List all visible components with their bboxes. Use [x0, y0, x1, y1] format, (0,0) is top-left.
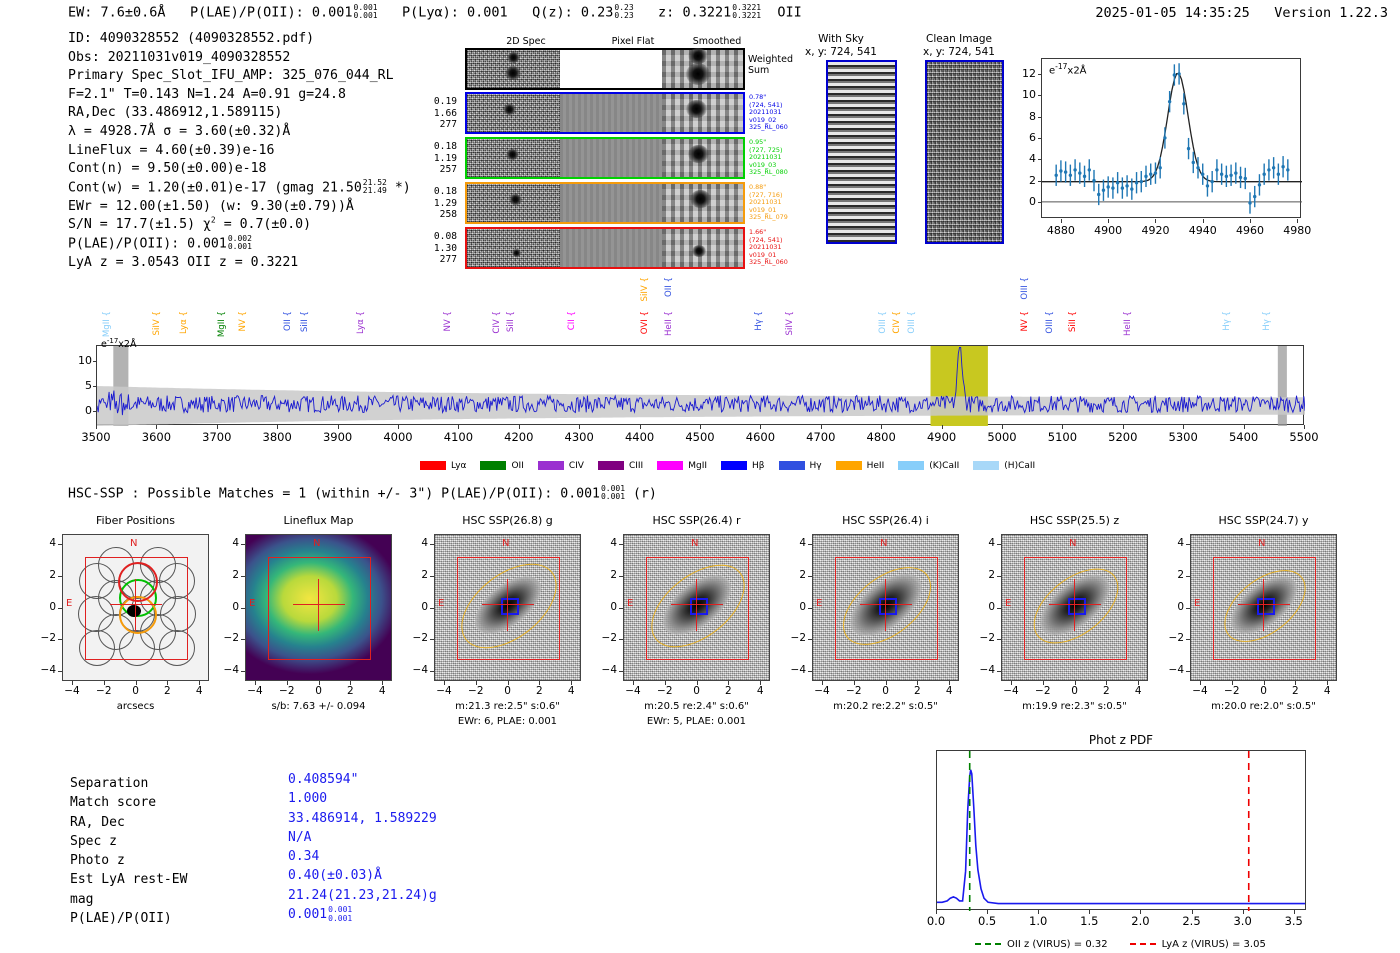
spectrum-legend-swatch — [480, 461, 506, 470]
info-sn-chi2: S/N = 17.7(±1.5) χ2 = 0.7(±0.0) — [68, 216, 411, 235]
spectrum-legend-label: Hβ — [752, 461, 765, 471]
spectrum-line-label: CIV { — [492, 311, 502, 334]
axis-tick-label: 2 — [1016, 174, 1036, 187]
axis-tick — [1108, 219, 1109, 223]
spectrum-line-label: OII { — [283, 311, 293, 331]
match-label: mag — [70, 890, 187, 909]
fiber-row-left-value: 277 — [417, 254, 457, 266]
axis-tick-label: 2 — [526, 685, 552, 697]
axis-tick — [241, 608, 245, 609]
fiber-row-meta: 0.95"(727, 725)20211031v019_03325_RL_080 — [749, 139, 788, 177]
axis-tick-label: −4 — [1187, 685, 1213, 697]
spectrum-line-label: OVI { — [640, 311, 650, 334]
axis-tick-label: 4200 — [497, 430, 541, 444]
spectrum-legend-swatch — [598, 461, 624, 470]
photz-pdf-plot — [936, 750, 1306, 910]
emission-line-units-exp: -17 — [1055, 62, 1067, 71]
crosshair — [435, 535, 580, 680]
spectrum-line-label: HeII { — [1123, 311, 1133, 336]
compass-east-label: E — [249, 598, 255, 609]
axis-tick-label: 2 — [1282, 685, 1308, 697]
spectrum-legend-label: CIV — [569, 461, 584, 471]
spectrum-line-label: OII { — [664, 277, 674, 297]
axis-tick — [997, 639, 1001, 640]
axis-tick — [430, 608, 434, 609]
spectrum-line-label: NV { — [238, 311, 248, 332]
weighted-sum-smoothed-image — [662, 50, 743, 88]
axis-tick-label: 4 — [558, 685, 584, 697]
axis-tick-label: −2 — [463, 685, 489, 697]
compass-east-label: E — [1194, 598, 1200, 609]
axis-tick — [338, 425, 339, 429]
fiber-row — [465, 227, 745, 269]
cutout-title: Lineflux Map — [219, 514, 419, 527]
axis-tick-label: 2 — [786, 569, 806, 581]
photz-legend-label: OII z (VIRUS) = 0.32 — [1007, 939, 1108, 950]
axis-tick — [1038, 138, 1042, 139]
fiber-row-left-value: 0.08 — [417, 231, 457, 243]
axis-tick-label: −2 — [1219, 685, 1245, 697]
axis-tick-label: 0 — [873, 685, 899, 697]
axis-tick-label: 4 — [408, 537, 428, 549]
fiber-row-left-value: 277 — [417, 119, 457, 131]
weighted-sum-row — [465, 48, 745, 90]
spectrum-legend-swatch — [898, 461, 924, 470]
axis-tick-label: 4100 — [436, 430, 480, 444]
match-table-values: 0.408594"1.00033.486914, 1.589229N/A0.34… — [288, 770, 437, 924]
photz-legend: OII z (VIRUS) = 0.32LyA z (VIRUS) = 3.05 — [975, 930, 1288, 950]
spectrum-legend-label: (K)CaII — [929, 461, 959, 471]
spectrum-legend-item: MgII — [657, 461, 707, 471]
axis-tick-label: 5 — [73, 379, 92, 392]
axis-tick-label: 3500 — [74, 430, 118, 444]
header-plae-value: 0.001 — [312, 4, 353, 20]
spectrum-line-label: SiII { — [506, 311, 516, 332]
axis-tick-label: 5500 — [1282, 430, 1326, 444]
axis-tick-label: 3.0 — [1225, 914, 1261, 928]
fiber-row-left-value: 258 — [417, 209, 457, 221]
axis-tick-label: 4920 — [1139, 224, 1171, 237]
weighted-sum-2dspec-image — [467, 50, 560, 88]
compass-north-label: N — [1069, 538, 1076, 549]
axis-tick — [277, 425, 278, 429]
axis-tick-label: −4 — [431, 685, 457, 697]
cutout-caption-secondary: EWr: 6, PLAE: 0.001 — [403, 716, 613, 727]
photz-legend-swatch — [975, 943, 1001, 945]
axis-tick — [1155, 219, 1156, 223]
axis-tick-label: 4 — [36, 537, 56, 549]
axis-tick — [156, 425, 157, 429]
fiber-row-left-values: 0.191.66277 — [417, 96, 457, 131]
match-plae-lo: 0.001 — [328, 914, 352, 923]
spectrum-line-label: CIV { — [892, 311, 902, 334]
axis-tick — [760, 425, 761, 429]
axis-tick-label: 0 — [975, 601, 995, 613]
axis-tick — [217, 425, 218, 429]
axis-tick-label: 0 — [123, 685, 149, 697]
axis-tick-label: 4900 — [1092, 224, 1124, 237]
spectrum-legend-label: OII — [511, 461, 523, 471]
match-value: 21.24(21.23,21.24)g — [288, 886, 437, 905]
info-obs: Obs: 20211031v019_4090328552 — [68, 49, 411, 68]
full-spectrum-plot: 0510 — [96, 345, 1304, 425]
spectrum-line-label: SiIV { — [152, 311, 162, 335]
crosshair — [246, 535, 391, 680]
axis-tick — [430, 671, 434, 672]
info-plae-value: 0.001 — [187, 236, 227, 251]
cutout-panel[interactable] — [1001, 534, 1148, 681]
fiber-row-smoothed-image — [662, 139, 743, 177]
axis-tick-label: 1.0 — [1020, 914, 1056, 928]
axis-tick — [398, 425, 399, 429]
cutout-title: Fiber Positions — [36, 514, 236, 527]
spectrum-line-label: SiIV { — [785, 311, 795, 335]
spectrum-line-label: HeII { — [664, 311, 674, 336]
cutout-caption: m:20.5 re:2.4" s:0.6" — [592, 701, 802, 712]
axis-tick-label: −4 — [786, 664, 806, 676]
axis-tick — [640, 425, 641, 429]
axis-tick-label: 3800 — [255, 430, 299, 444]
fiber-row-2dspec-image — [467, 94, 560, 132]
lineflux-map-panel[interactable] — [245, 534, 392, 681]
fiber-row-2dspec-image — [467, 139, 560, 177]
hsc-header-plae-lo: 0.001 — [601, 492, 625, 501]
axis-tick-label: 5300 — [1161, 430, 1205, 444]
cutout-caption-secondary: EWr: 5, PLAE: 0.001 — [592, 716, 802, 727]
fiber-row-meta: 0.78"(724, 541)20211031v019_02325_RL_060 — [749, 94, 788, 132]
axis-tick-label: −2 — [1164, 632, 1184, 644]
axis-tick-label: 3700 — [195, 430, 239, 444]
axis-tick-label: 5400 — [1222, 430, 1266, 444]
fiber-row-pixelflat-image — [560, 94, 662, 132]
axis-tick — [1183, 425, 1184, 429]
info-radec: RA,Dec (33.486912,1.589115) — [68, 104, 411, 123]
crosshair — [813, 535, 958, 680]
spectrum-legend-item: CIII — [598, 461, 643, 471]
axis-tick-label: 4800 — [859, 430, 903, 444]
fiber-row-meta-line: 325_RL_080 — [749, 169, 788, 177]
weighted-sum-pixelflat-image — [560, 50, 662, 88]
cutout-panel[interactable] — [62, 534, 209, 681]
axis-tick — [1244, 425, 1245, 429]
axis-tick-label: 0 — [408, 601, 428, 613]
fiber-row-pixelflat-image — [560, 229, 662, 267]
axis-tick-label: 4600 — [738, 430, 782, 444]
spectrum-legend-swatch — [538, 461, 564, 470]
axis-tick-label: 3900 — [316, 430, 360, 444]
cutout-panel[interactable] — [812, 534, 959, 681]
axis-tick-label: 10 — [1016, 88, 1036, 101]
axis-tick-label: 4880 — [1045, 224, 1077, 237]
axis-tick-label: 4000 — [376, 430, 420, 444]
axis-tick-label: 4 — [975, 537, 995, 549]
spectrum-legend-label: (H)CaII — [1004, 461, 1035, 471]
axis-tick-label: 0 — [36, 601, 56, 613]
header-summary: EW: 7.6±0.6Å P(LAE)/P(OII): 0.0010.0010.… — [68, 4, 802, 21]
axis-tick-label: −4 — [998, 685, 1024, 697]
axis-tick — [58, 671, 62, 672]
axis-tick — [519, 425, 520, 429]
fiber-row-left-value: 1.66 — [417, 108, 457, 120]
fiber-row-smoothed-image — [662, 184, 743, 222]
spectrum-units: e-17x2Å — [101, 337, 136, 350]
axis-tick — [1038, 159, 1042, 160]
match-label: Spec z — [70, 832, 187, 851]
spectrum-legend-item: Lyα — [420, 461, 466, 471]
cutout-title: HSC SSP(26.4) r — [597, 514, 797, 527]
axis-tick-label: −4 — [242, 685, 268, 697]
axis-tick-label: 0 — [597, 601, 617, 613]
axis-tick-label: −2 — [219, 632, 239, 644]
crosshair — [1002, 535, 1147, 680]
axis-tick — [1038, 117, 1042, 118]
withsky-title-line1: With Sky — [786, 33, 896, 46]
axis-tick — [430, 576, 434, 577]
withsky-image — [826, 60, 897, 244]
fiber-row-left-values: 0.081.30277 — [417, 231, 457, 266]
photz-pdf-title: Phot z PDF — [936, 733, 1306, 747]
info-cont-w-lo: 21.49 — [363, 186, 387, 195]
cutout-caption: arcsecs — [31, 701, 241, 712]
axis-tick-label: 4400 — [618, 430, 662, 444]
axis-tick-label: 4 — [1016, 152, 1036, 165]
fiber-row-left-value: 0.18 — [417, 186, 457, 198]
match-plae-value: 0.001 — [288, 907, 327, 922]
axis-tick — [1186, 544, 1190, 545]
axis-tick-label: 0 — [495, 685, 521, 697]
axis-tick — [241, 671, 245, 672]
spectrum-legend-label: Hγ — [810, 461, 822, 471]
axis-tick — [1038, 95, 1042, 96]
axis-tick — [1297, 219, 1298, 223]
axis-tick — [619, 639, 623, 640]
compass-north-label: N — [502, 538, 509, 549]
axis-tick-label: 5000 — [980, 430, 1024, 444]
info-ewr: EWr = 12.00(±1.50) (w: 9.30(±0.79))Å — [68, 198, 411, 217]
header-plae-label: P(LAE)/P(OII): — [190, 4, 304, 20]
fiber-row-left-value: 257 — [417, 164, 457, 176]
axis-tick-label: 4 — [1125, 685, 1151, 697]
cutout-title: HSC SSP(26.4) i — [786, 514, 986, 527]
header-plya-value: 0.001 — [467, 4, 508, 20]
axis-tick-label: 3600 — [134, 430, 178, 444]
axis-tick-label: 2 — [715, 685, 741, 697]
axis-tick-label: 6 — [1016, 131, 1036, 144]
axis-tick — [58, 544, 62, 545]
axis-tick — [997, 671, 1001, 672]
axis-tick-label: 2 — [408, 569, 428, 581]
fiber-row-left-values: 0.181.29258 — [417, 186, 457, 221]
axis-tick — [1186, 671, 1190, 672]
info-plae-label: P(LAE)/P(OII): — [68, 236, 179, 251]
axis-tick — [93, 411, 97, 412]
spectrum-line-label: CII { — [567, 311, 577, 330]
info-cont-w: Cont(w) = 1.20(±0.01)e-17 (gmag 21.5021.… — [68, 179, 411, 198]
axis-tick — [1250, 219, 1251, 223]
emission-line-units-rest: x2Å — [1067, 65, 1086, 76]
axis-tick-label: −4 — [809, 685, 835, 697]
axis-tick — [808, 608, 812, 609]
axis-tick-label: 4 — [369, 685, 395, 697]
axis-tick — [808, 671, 812, 672]
axis-tick — [430, 639, 434, 640]
axis-tick-label: 8 — [1016, 110, 1036, 123]
axis-tick — [1061, 219, 1062, 223]
axis-tick-label: 4 — [1164, 537, 1184, 549]
spectrum-legend-item: Hγ — [779, 461, 822, 471]
cutout-caption: m:21.3 re:2.5" s:0.6" — [403, 701, 613, 712]
axis-tick-label: 0 — [1251, 685, 1277, 697]
header-z-lo: 0.3221 — [732, 11, 761, 20]
spectrum-legend-swatch — [973, 461, 999, 470]
info-cont-w-pre: Cont(w) = 1.20(±0.01)e-17 (gmag 21.50 — [68, 180, 362, 195]
info-cont-w-post: *) — [395, 180, 411, 195]
axis-tick — [58, 639, 62, 640]
axis-tick-label: 2 — [154, 685, 180, 697]
axis-tick-label: −2 — [36, 632, 56, 644]
axis-tick — [619, 608, 623, 609]
cutout-panel[interactable] — [1190, 534, 1337, 681]
axis-tick — [96, 425, 97, 429]
spectrum-units-exp: -17 — [107, 337, 118, 345]
axis-tick — [1186, 576, 1190, 577]
spectrum-legend: LyαOIICIVCIIIMgIIHβHγHeII(K)CaII(H)CaII — [420, 455, 1049, 474]
axis-tick — [1304, 425, 1305, 429]
fiber-row-left-values: 0.181.19257 — [417, 141, 457, 176]
axis-tick-label: −4 — [975, 664, 995, 676]
fiber-row-left-value: 0.19 — [417, 96, 457, 108]
photz-legend-item: LyA z (VIRUS) = 3.05 — [1130, 939, 1266, 950]
header-qz-value: 0.23 — [581, 4, 614, 20]
photz-legend-swatch — [1130, 943, 1156, 945]
axis-tick-label: 0 — [306, 685, 332, 697]
info-sn-post: = 0.7(±0.0) — [216, 217, 311, 232]
axis-tick-label: −2 — [597, 632, 617, 644]
spectrum-legend-item: HeII — [836, 461, 885, 471]
axis-tick-label: 4900 — [920, 430, 964, 444]
axis-tick-label: 0 — [684, 685, 710, 697]
match-value: N/A — [288, 828, 437, 847]
axis-tick-label: 0.0 — [918, 914, 954, 928]
axis-tick — [821, 425, 822, 429]
header-qz-label: Q(z): — [532, 4, 573, 20]
info-plae-lo: 0.001 — [228, 242, 252, 251]
header-plya-label: P(Lyα): — [402, 4, 459, 20]
fiber-row-meta: 0.88"(727, 716)20211031v019_01325_RL_079 — [749, 184, 788, 222]
fiber-row-meta-line: 325_RL_079 — [749, 214, 788, 222]
match-label: P(LAE)/P(OII) — [70, 909, 187, 928]
info-seeing: F=2.1" T=0.143 N=1.24 A=0.91 g=24.8 — [68, 86, 411, 105]
axis-tick-label: 0.5 — [969, 914, 1005, 928]
withsky-title-line2: x, y: 724, 541 — [786, 46, 896, 59]
axis-tick-label: −2 — [786, 632, 806, 644]
axis-tick — [619, 671, 623, 672]
spectrum-line-label: OIII { — [1045, 311, 1055, 334]
axis-tick-label: 4700 — [799, 430, 843, 444]
axis-tick — [1038, 181, 1042, 182]
withsky-title: With Sky x, y: 724, 541 — [786, 33, 896, 59]
header-z-label: z: — [658, 4, 674, 20]
cutout-panel[interactable] — [434, 534, 581, 681]
match-label: RA, Dec — [70, 813, 187, 832]
axis-tick-label: 0 — [786, 601, 806, 613]
object-info-block: ID: 4090328552 (4090328552.pdf) Obs: 202… — [68, 30, 411, 273]
timestamp: 2025-01-05 14:35:25 — [1095, 5, 1249, 21]
axis-tick-label: 0 — [73, 404, 92, 417]
axis-tick — [579, 425, 580, 429]
spectrum-line-label: Hγ { — [1222, 311, 1232, 331]
axis-tick-label: 0 — [1016, 195, 1036, 208]
axis-tick — [93, 386, 97, 387]
axis-tick-label: 1.5 — [1071, 914, 1107, 928]
match-label: Match score — [70, 793, 187, 812]
axis-tick — [808, 576, 812, 577]
axis-tick — [241, 544, 245, 545]
axis-tick-label: 4980 — [1281, 224, 1313, 237]
axis-tick-label: −2 — [1030, 685, 1056, 697]
spectrum-line-label: Lyα { — [179, 311, 189, 334]
info-cont-n: Cont(n) = 9.50(±0.00)e-18 — [68, 160, 411, 179]
axis-tick-label: −4 — [219, 664, 239, 676]
photz-legend-label: LyA z (VIRUS) = 3.05 — [1162, 939, 1266, 950]
spectrum-legend-label: HeII — [867, 461, 885, 471]
spectrum-line-label: Lyα { — [356, 311, 366, 334]
axis-tick-label: 12 — [1016, 67, 1036, 80]
spectrum-legend-item: (H)CaII — [973, 461, 1035, 471]
spectrum-legend-label: MgII — [688, 461, 707, 471]
fiber-row-pixelflat-image — [560, 184, 662, 222]
axis-tick-label: 4940 — [1187, 224, 1219, 237]
spectrum-line-label: MgII { — [102, 311, 112, 337]
info-id: ID: 4090328552 (4090328552.pdf) — [68, 30, 411, 49]
axis-tick-label: −2 — [408, 632, 428, 644]
spectrum-line-label: SiII { — [300, 311, 310, 332]
axis-tick-label: 2 — [1093, 685, 1119, 697]
fiber-row-left-value: 0.18 — [417, 141, 457, 153]
axis-tick — [1062, 425, 1063, 429]
cutout-panel[interactable] — [623, 534, 770, 681]
spectrum-units-rest: x2Å — [118, 339, 136, 350]
axis-tick-label: 2 — [219, 569, 239, 581]
fiber-row-smoothed-image — [662, 229, 743, 267]
axis-tick-label: 2 — [597, 569, 617, 581]
match-value: 0.0010.0010.001 — [288, 905, 437, 924]
axis-tick-label: 4 — [786, 537, 806, 549]
hsc-header-pre: HSC-SSP : Possible Matches = 1 (within +… — [68, 486, 552, 501]
axis-tick — [619, 544, 623, 545]
photz-legend-item: OII z (VIRUS) = 0.32 — [975, 939, 1108, 950]
version-label: Version 1.22.3 — [1274, 5, 1388, 21]
fiber-row-left-value: 1.19 — [417, 153, 457, 165]
timestamp-version: 2025-01-05 14:35:25 Version 1.22.3 — [1095, 5, 1388, 21]
fiber-row-2dspec-image — [467, 184, 560, 222]
compass-north-label: N — [1258, 538, 1265, 549]
compass-north-label: N — [313, 538, 320, 549]
header-z-value: 0.3221 — [682, 4, 731, 20]
fiber-row-meta-line: 325_RL_060 — [749, 124, 788, 132]
fiber-row — [465, 182, 745, 224]
emission-line-units: e-17x2Å — [1049, 62, 1087, 76]
cleanimage-image — [925, 60, 1004, 244]
axis-tick — [458, 425, 459, 429]
compass-east-label: E — [66, 598, 72, 609]
compass-east-label: E — [816, 598, 822, 609]
axis-tick-label: 4500 — [678, 430, 722, 444]
compass-east-label: E — [438, 598, 444, 609]
hsc-header: HSC-SSP : Possible Matches = 1 (within +… — [68, 485, 657, 502]
cutout-title: HSC SSP(25.5) z — [975, 514, 1175, 527]
spectrum-legend-item: Hβ — [721, 461, 765, 471]
